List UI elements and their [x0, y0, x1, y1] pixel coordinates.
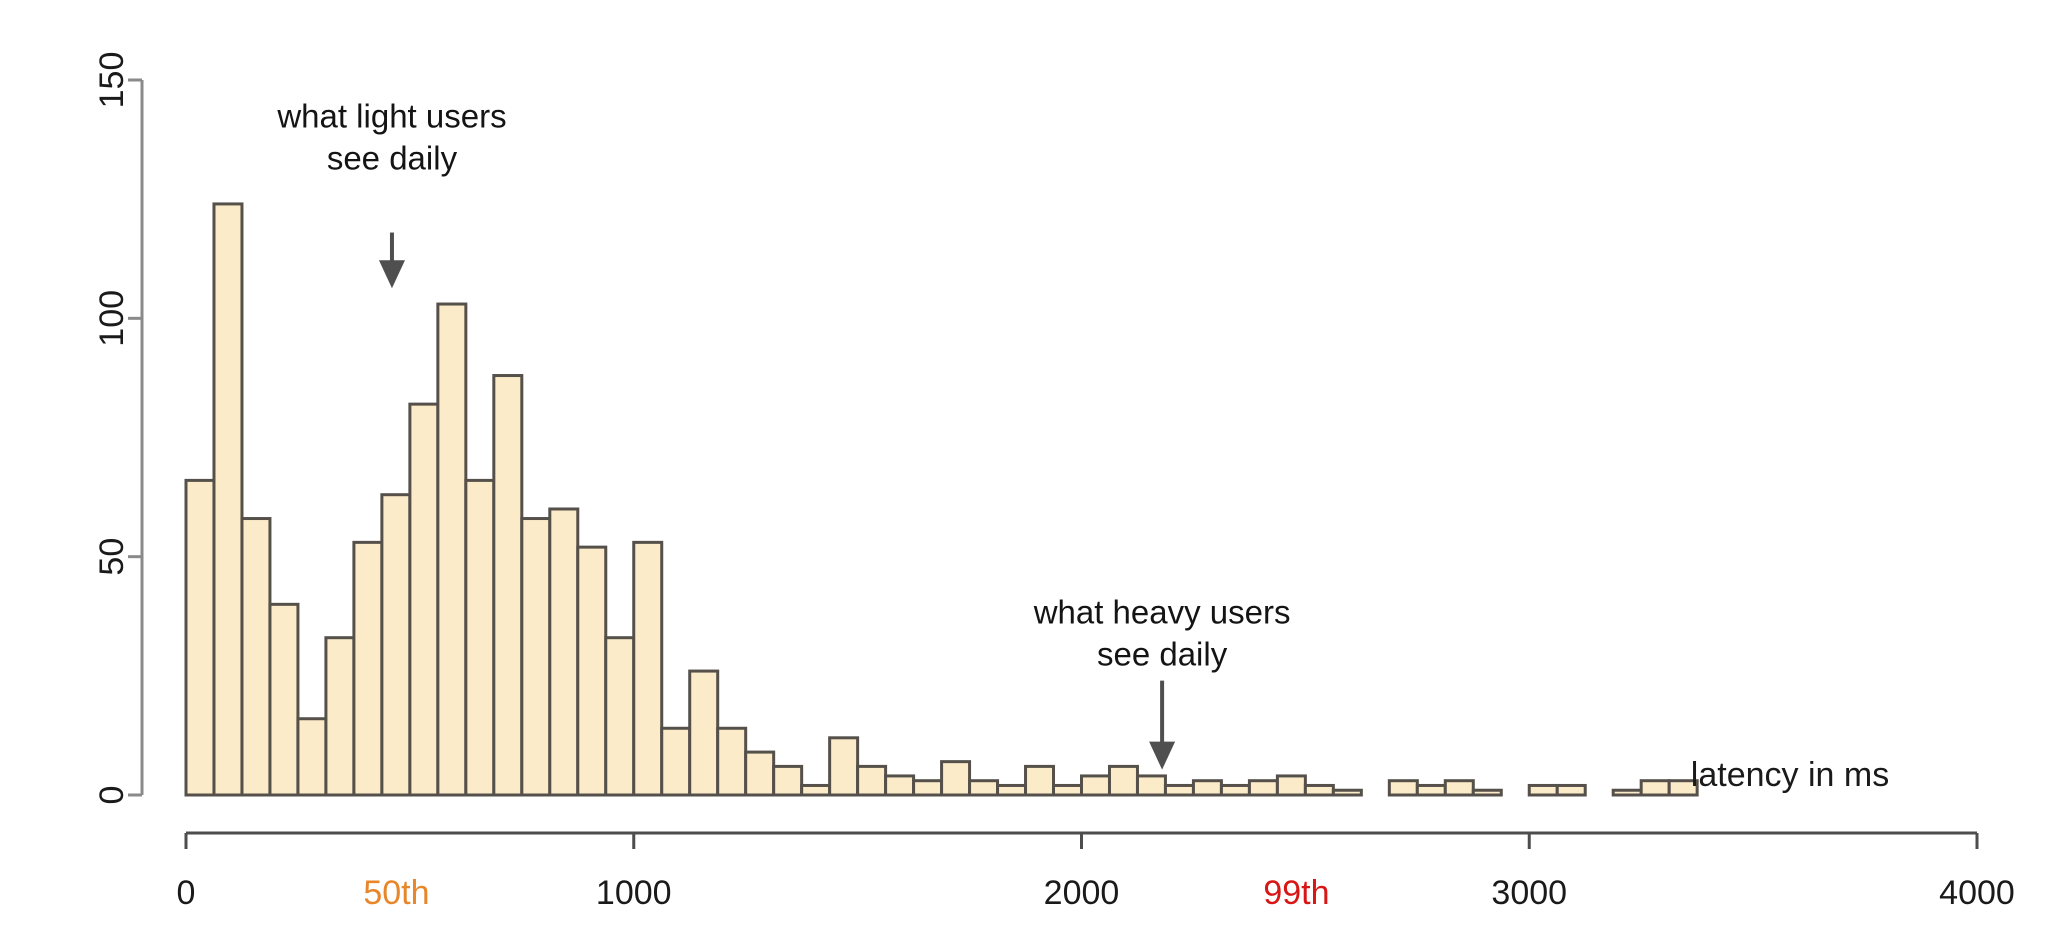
histogram-bars: [186, 204, 1697, 795]
chart-canvas: 050100150 01000200030004000 50th99th wha…: [0, 0, 2048, 934]
annotation-line: what heavy users: [1033, 593, 1291, 630]
histogram-bar: [466, 480, 494, 795]
histogram-bar: [1445, 781, 1473, 795]
histogram-bar: [858, 766, 886, 795]
annotation-line: what light users: [276, 98, 506, 135]
histogram-bar: [550, 509, 578, 795]
y-axis: 050100150: [93, 52, 142, 805]
x-tick-label-2000: 2000: [1044, 874, 1120, 912]
histogram-bar: [1613, 790, 1641, 795]
x-axis: 01000200030004000: [177, 833, 2015, 912]
y-tick-label-0: 0: [93, 786, 131, 805]
histogram-bar: [298, 719, 326, 795]
annotation-arrow-head: [1149, 742, 1175, 770]
latency-histogram-figure: 050100150 01000200030004000 50th99th wha…: [0, 0, 2048, 934]
histogram-bar: [830, 738, 858, 795]
histogram-bar: [886, 776, 914, 795]
histogram-bar: [1333, 790, 1361, 795]
annotation-line: see daily: [1097, 635, 1228, 672]
histogram-bar: [186, 480, 214, 795]
histogram-bar: [410, 404, 438, 795]
histogram-bar: [578, 547, 606, 795]
histogram-bar: [1557, 785, 1585, 795]
x-tick-label-4000: 4000: [1939, 874, 2015, 912]
histogram-bar: [970, 781, 998, 795]
percentile-labels: 50th99th: [363, 874, 1329, 912]
x-tick-label-0: 0: [177, 874, 196, 912]
histogram-bar: [1193, 781, 1221, 795]
histogram-bar: [746, 752, 774, 795]
histogram-bar: [1249, 781, 1277, 795]
y-tick-label-50: 50: [93, 538, 131, 576]
histogram-bar: [1165, 785, 1193, 795]
x-tick-label-1000: 1000: [596, 874, 672, 912]
histogram-bar: [634, 542, 662, 795]
histogram-bar: [1529, 785, 1557, 795]
histogram-bar: [1389, 781, 1417, 795]
histogram-bar: [382, 495, 410, 795]
histogram-bar: [1026, 766, 1054, 795]
histogram-bar: [326, 638, 354, 795]
histogram-bar: [662, 728, 690, 795]
histogram-bar: [1109, 766, 1137, 795]
histogram-bar: [718, 728, 746, 795]
y-tick-label-150: 150: [93, 52, 131, 109]
histogram-bar: [1054, 785, 1082, 795]
x-tick-label-3000: 3000: [1491, 874, 1567, 912]
histogram-bar: [690, 671, 718, 795]
histogram-bar: [522, 519, 550, 795]
histogram-bar: [1221, 785, 1249, 795]
histogram-bar: [802, 785, 830, 795]
y-tick-label-100: 100: [93, 290, 131, 347]
histogram-bar: [1082, 776, 1110, 795]
percentile-label-p99: 99th: [1263, 874, 1329, 912]
histogram-bar: [774, 766, 802, 795]
histogram-bar: [942, 762, 970, 795]
histogram-bar: [354, 542, 382, 795]
histogram-bar: [1473, 790, 1501, 795]
histogram-bar: [1641, 781, 1669, 795]
histogram-bar: [214, 204, 242, 795]
histogram-bar: [1417, 785, 1445, 795]
histogram-bar: [1277, 776, 1305, 795]
histogram-bar: [438, 304, 466, 795]
histogram-bar: [998, 785, 1026, 795]
x-axis-title: latency in ms: [1691, 756, 1889, 794]
histogram-bar: [242, 519, 270, 795]
percentile-label-p50: 50th: [363, 874, 429, 912]
histogram-bar: [270, 604, 298, 795]
annotation-line: see daily: [327, 140, 458, 177]
histogram-bar: [606, 638, 634, 795]
annotation-arrow-head: [379, 260, 405, 288]
histogram-bar: [494, 376, 522, 795]
histogram-bar: [914, 781, 942, 795]
histogram-bar: [1305, 785, 1333, 795]
histogram-bar: [1137, 776, 1165, 795]
